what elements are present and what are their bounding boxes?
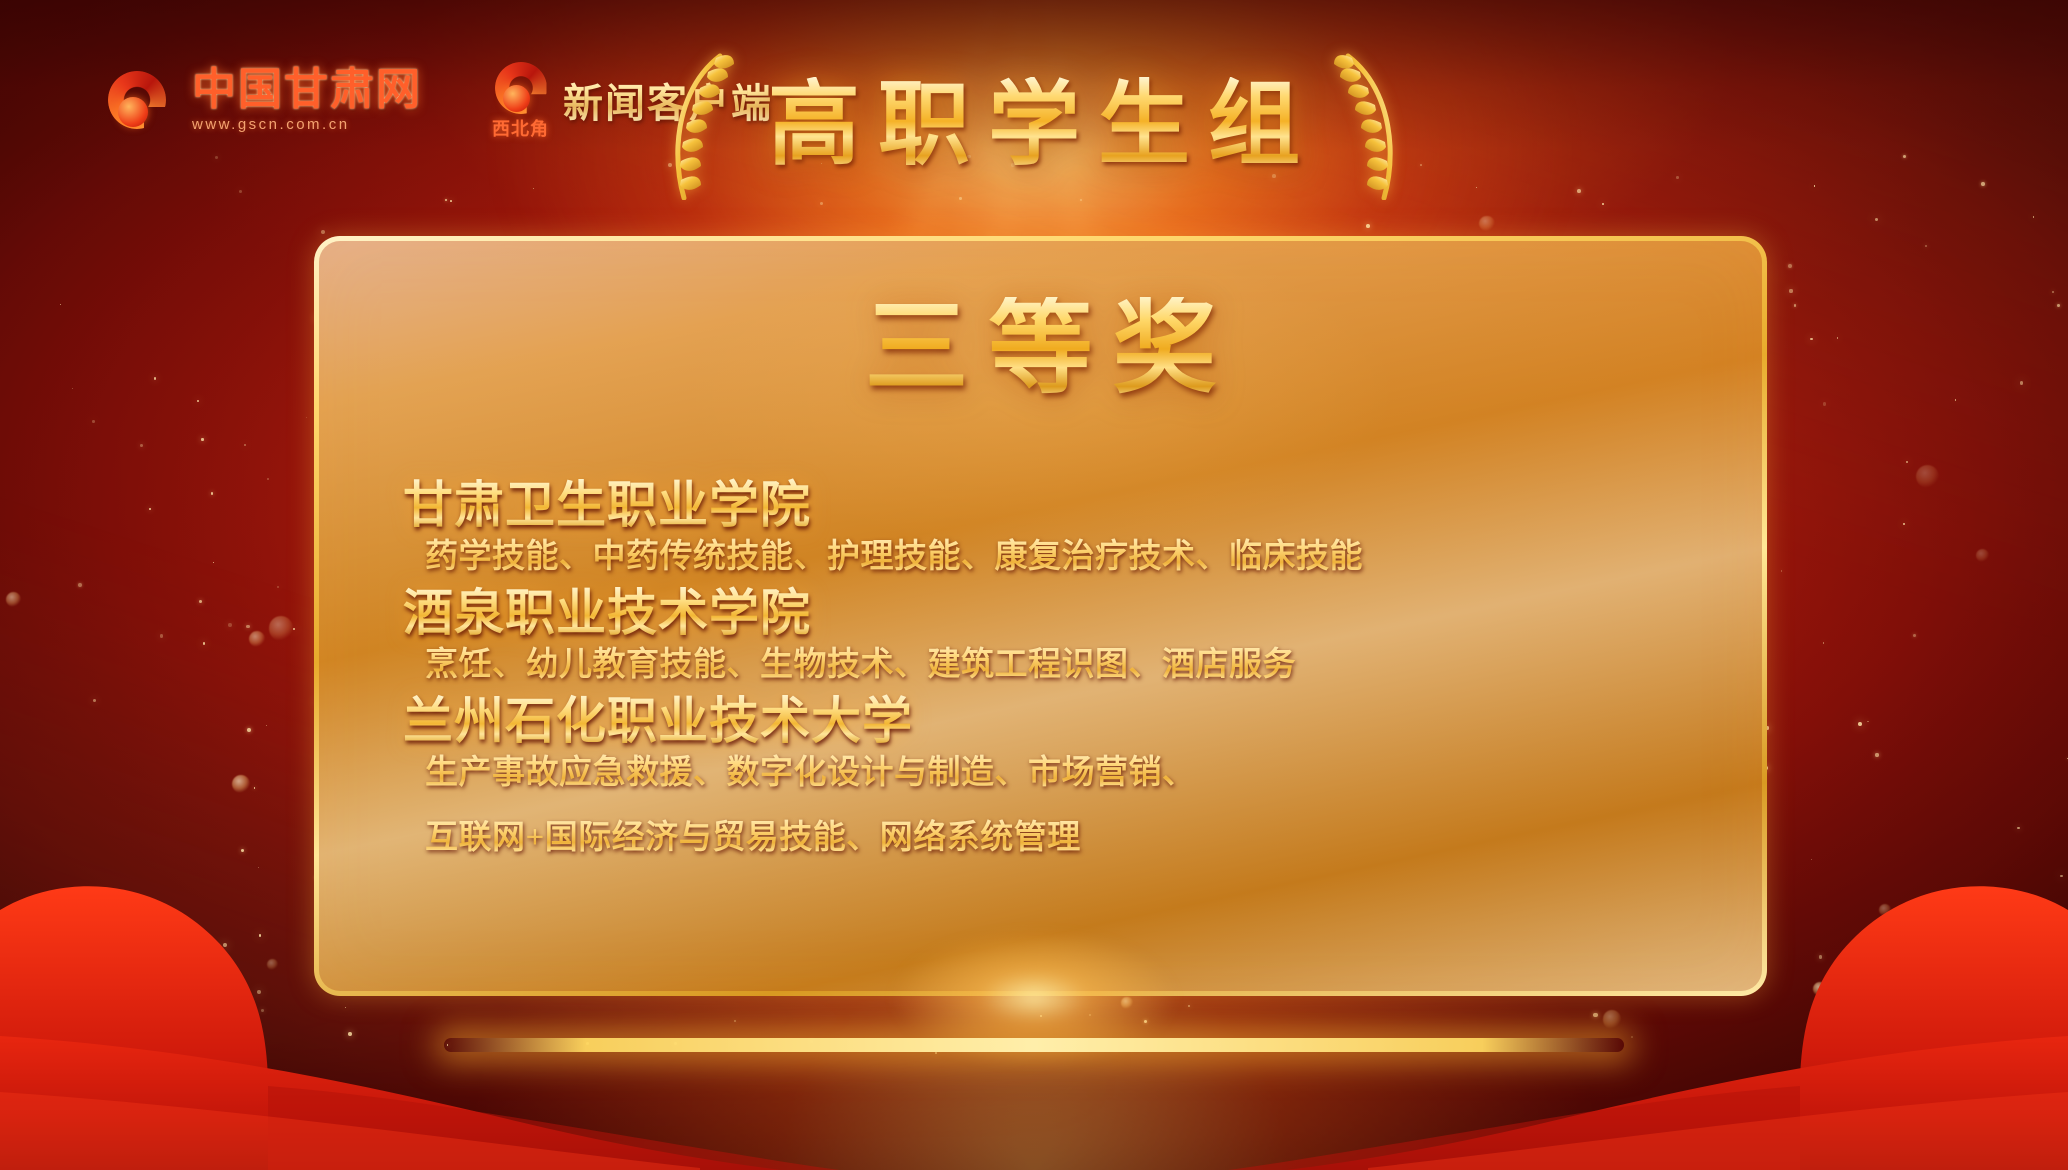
header: 中国甘肃网 www.gscn.com.cn 西北角 新闻客户端 — [0, 0, 2068, 210]
stage-light-bar — [444, 1038, 1624, 1052]
award-title: 三等奖 — [319, 297, 1762, 401]
category-title-wrap: 高职学生组 — [650, 50, 1418, 200]
winner-major-list: 互联网+国际经济与贸易技能、网络系统管理 — [403, 815, 1712, 862]
brand-name: 中国甘肃网 — [192, 68, 422, 112]
winner-list: 甘肃卫生职业学院药学技能、中药传统技能、护理技能、康复治疗技术、临床技能酒泉职业… — [403, 477, 1712, 865]
winner-school-name: 酒泉职业技术学院 — [403, 585, 1712, 642]
gansu-net-swirl-logo-icon — [108, 71, 166, 129]
winner-major-list: 生产事故应急救援、数字化设计与制造、市场营销、 — [403, 750, 1712, 797]
brand-url: www.gscn.com.cn — [192, 117, 422, 132]
award-card: 三等奖 甘肃卫生职业学院药学技能、中药传统技能、护理技能、康复治疗技术、临床技能… — [314, 236, 1767, 996]
winner-entry: 兰州石化职业技术大学生产事故应急救援、数字化设计与制造、市场营销、互联网+国际经… — [403, 693, 1712, 862]
brand2-name: 西北角 — [492, 120, 549, 138]
page-title: 高职学生组 — [750, 77, 1318, 174]
xibeijiao-swirl-logo-icon — [495, 62, 547, 114]
wheat-laurel-left-icon — [650, 50, 736, 200]
winner-school-name: 兰州石化职业技术大学 — [403, 693, 1712, 750]
winner-school-name: 甘肃卫生职业学院 — [403, 477, 1712, 534]
award-slide: 中国甘肃网 www.gscn.com.cn 西北角 新闻客户端 — [0, 0, 2068, 1170]
brand-gansu-net: 中国甘肃网 www.gscn.com.cn — [192, 68, 422, 132]
winner-major-list: 药学技能、中药传统技能、护理技能、康复治疗技术、临床技能 — [403, 534, 1712, 581]
winner-major-list: 烹饪、幼儿教育技能、生物技术、建筑工程识图、酒店服务 — [403, 642, 1712, 689]
winner-entry: 酒泉职业技术学院烹饪、幼儿教育技能、生物技术、建筑工程识图、酒店服务 — [403, 585, 1712, 689]
stage-core-glow — [824, 898, 1244, 1098]
wheat-laurel-right-icon — [1332, 50, 1418, 200]
winner-entry: 甘肃卫生职业学院药学技能、中药传统技能、护理技能、康复治疗技术、临床技能 — [403, 477, 1712, 581]
